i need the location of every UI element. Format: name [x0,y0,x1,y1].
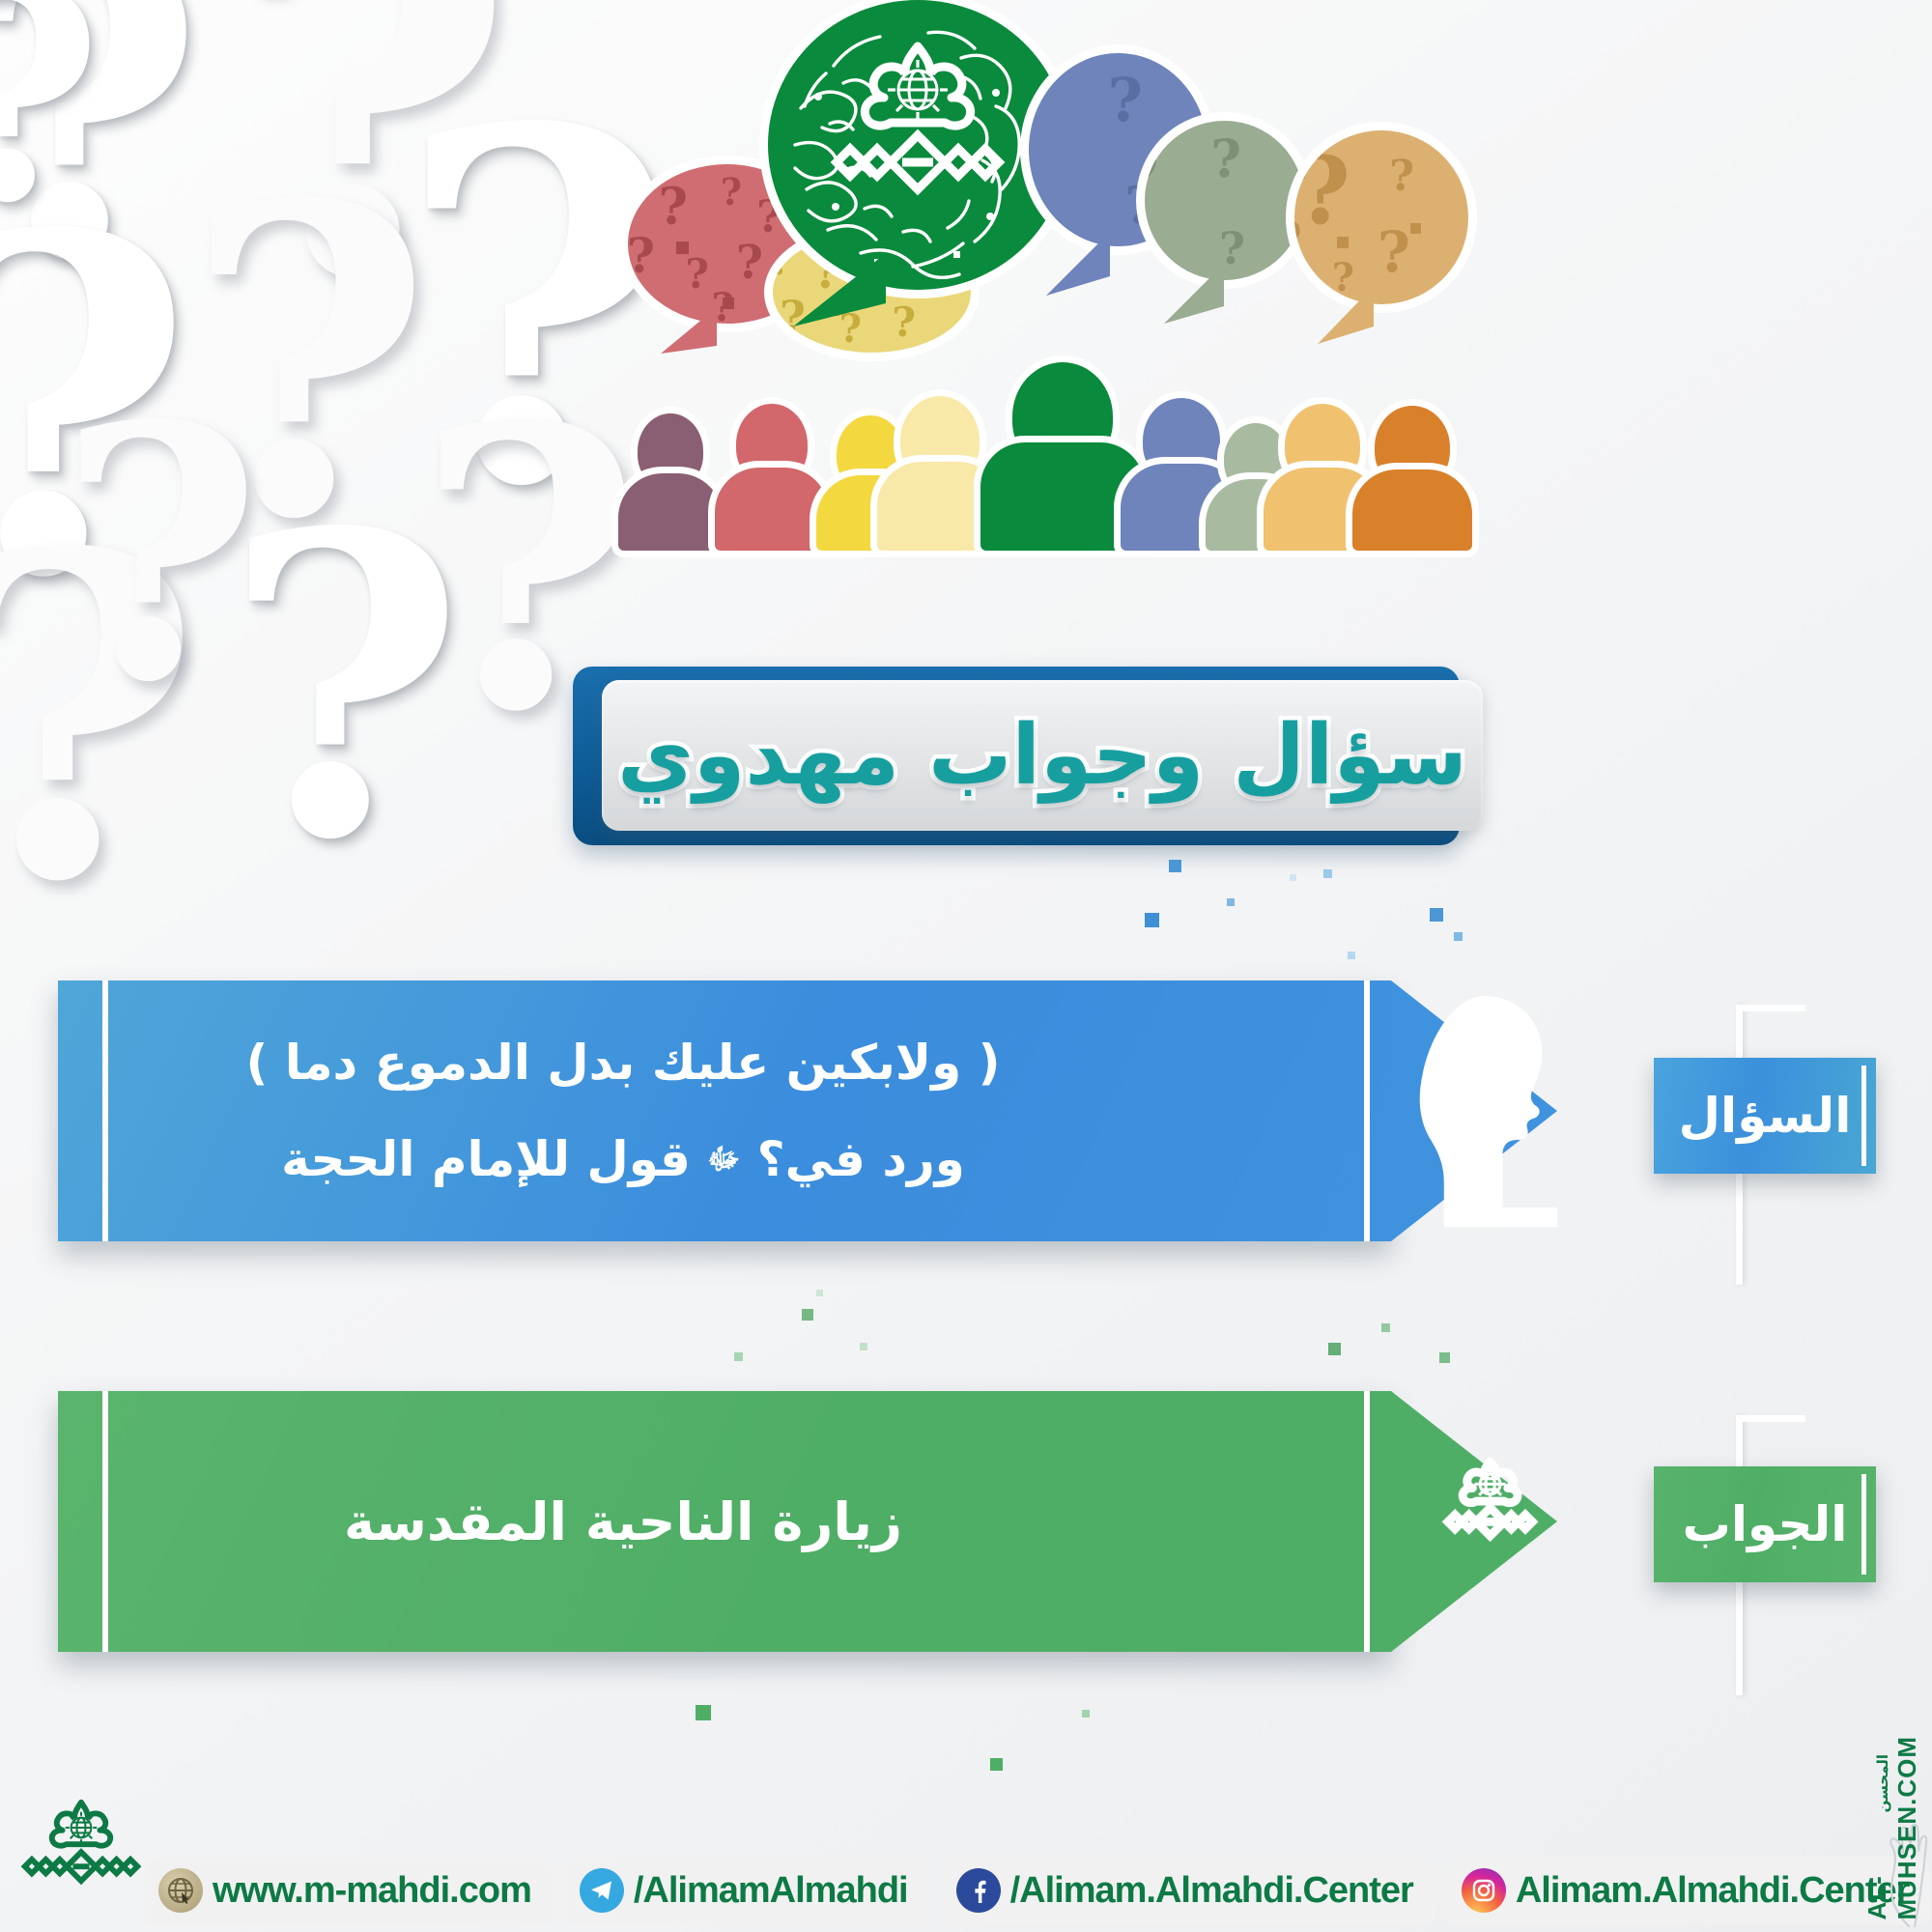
question-tab-hook [1736,1005,1805,1011]
confetti-square [1348,952,1355,959]
confetti-square [990,1758,1003,1771]
poster-root: ? ? ? ? ? ? ? ? ? ? ? ? ? ? ? ? ? ? [0,0,1932,1932]
social-links: www.m-mahdi.com /AlimamAlmahdi /Ali [145,1853,1930,1928]
confetti-square [816,1290,823,1296]
question-mark-icon: ? [58,415,262,694]
person-figure [715,404,829,551]
question-arrow-head [1391,980,1557,1241]
question-line-1: ( ولابكين عليك بدل الدموع دما ) [246,1035,1001,1091]
confetti-square [1454,932,1463,941]
answer-panel: زيارة الناحية المقدسة [58,1391,1391,1652]
speech-bubble-cluster: ? ? ? ? ? ? ? ? ? [618,0,1488,386]
svg-text:?: ? [1145,121,1162,256]
honorific-icon: ﷻ [707,1143,740,1177]
confetti-square [1082,1710,1090,1718]
link-instagram[interactable]: Alimam.Almahdi.Center [1448,1857,1931,1924]
question-line-2: ورد في؟ ﷻ قول للإمام الحجة [281,1131,965,1187]
person-figure [618,413,723,551]
question-line-2-head: قول للإمام الحجة [281,1131,691,1187]
svg-text:?: ? [721,170,742,213]
question-line-2-tail: ورد في؟ [757,1131,965,1187]
facebook-icon [956,1868,1001,1913]
link-telegram[interactable]: /AlimamAlmahdi [566,1857,929,1924]
page-title: سؤال وجواب مهدوي [617,707,1467,804]
tab-accent-bar [1861,1474,1866,1575]
confetti-square [860,1343,867,1350]
svg-text:?: ? [1108,65,1143,135]
speech-bubble-main-green [768,0,1067,290]
instagram-icon [1462,1868,1506,1913]
svg-text:?: ? [1296,136,1350,245]
answer-text: زيارة الناحية المقدسة [344,1492,902,1552]
speech-bubble-sage: ? ? ? [1145,121,1304,280]
svg-text:?: ? [736,236,763,290]
confetti-square [1290,874,1296,881]
title-banner: سؤال وجواب مهدوي [565,667,1473,850]
person-figure [1352,406,1472,551]
answer-tab-label: الجواب [1683,1496,1848,1552]
confetti-square [734,1352,743,1361]
confetti-square [1381,1323,1390,1332]
audience-crowd [618,357,1420,551]
question-mark-icon: ? [0,0,102,213]
svg-text:?: ? [1029,53,1052,196]
answer-tab-hook [1736,1415,1805,1422]
designer-watermark: AL-MUHSEN.COM المحسن [1870,1745,1928,1928]
confetti-square [1169,860,1181,872]
confetti-square [1145,913,1159,927]
speech-bubble-tan: ? ? ? ? ? ? [1294,130,1468,304]
watermark-arabic: المحسن [1874,1754,1891,1812]
confetti-square [1430,908,1443,922]
confetti-square [802,1309,813,1321]
svg-text:?: ? [628,227,655,284]
confetti-square [696,1705,711,1720]
svg-text:?: ? [685,250,709,298]
link-website-label: www.m-mahdi.com [213,1870,531,1912]
svg-text:?: ? [659,178,688,237]
link-telegram-label: /AlimamAlmahdi [634,1870,908,1912]
confetti-square [1227,898,1235,906]
svg-text:?: ? [628,277,636,318]
link-website[interactable]: www.m-mahdi.com [145,1857,553,1924]
question-tab-label: السؤال [1679,1088,1852,1144]
tab-accent-bar [1861,1065,1866,1166]
svg-text:?: ? [628,169,645,218]
link-facebook-label: /Alimam.Almahdi.Center [1010,1870,1413,1912]
answer-tab[interactable]: الجواب [1654,1466,1876,1582]
svg-text:?: ? [1389,152,1414,201]
question-tab[interactable]: السؤال [1654,1058,1876,1174]
svg-text:?: ? [1029,66,1031,118]
telegram-icon [580,1868,624,1913]
svg-text:?: ? [1378,219,1410,285]
confetti-square [1328,1343,1341,1355]
answer-arrow-head [1391,1391,1557,1652]
svg-text:?: ? [1294,212,1302,270]
question-panel: ( ولابكين عليك بدل الدموع دما ) ورد في؟ … [58,980,1391,1241]
svg-text:?: ? [1210,128,1241,189]
confetti-square [1323,869,1332,878]
organization-logo-icon [14,1777,149,1922]
link-instagram-label: Alimam.Almahdi.Center [1516,1870,1910,1912]
globe-icon [158,1868,203,1913]
confetti-square [1439,1352,1450,1363]
link-facebook[interactable]: /Alimam.Almahdi.Center [943,1857,1435,1924]
footer-bar: www.m-mahdi.com /AlimamAlmahdi /Ali [0,1816,1932,1932]
title-banner-plate: سؤال وجواب مهدوي [602,680,1483,831]
watermark-text: AL-MUHSEN.COM [1862,1736,1922,1920]
